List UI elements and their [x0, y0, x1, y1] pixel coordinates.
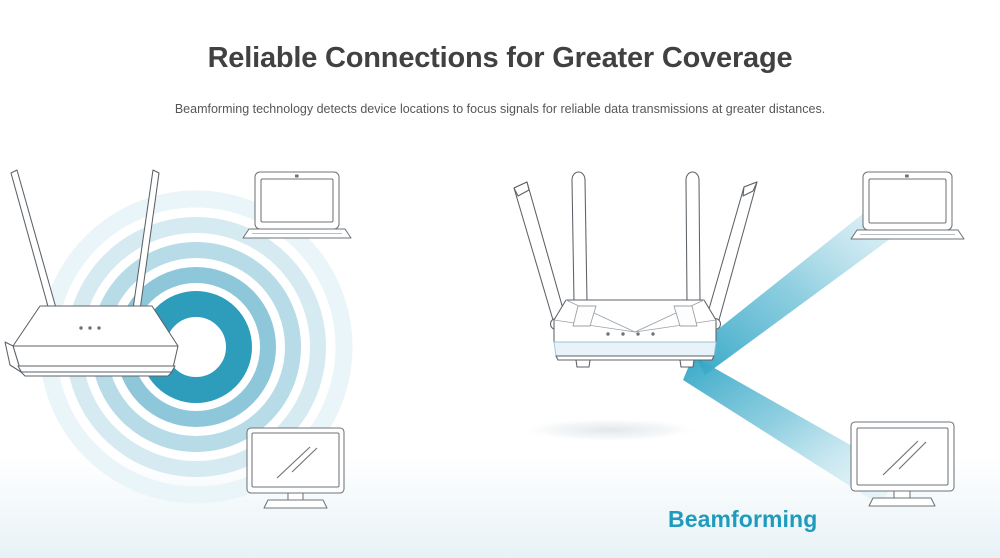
antenna-inner-right: [686, 172, 700, 302]
tv-stand: [869, 498, 935, 506]
antenna-outer-right: [707, 182, 757, 320]
router-shadow: [518, 418, 702, 442]
router-antenna-left: [11, 170, 56, 310]
header: Reliable Connections for Greater Coverag…: [0, 0, 1000, 117]
tv-stand: [264, 500, 327, 508]
router-foot-right: [680, 360, 694, 367]
router-base-strip: [554, 342, 716, 356]
laptop-screen: [261, 179, 333, 222]
laptop-device: [851, 172, 964, 239]
right-illustration-beamforming: [500, 160, 1000, 558]
tv-neck: [288, 493, 303, 500]
left-illustration-omni-coverage: [0, 160, 500, 558]
laptop-camera: [295, 175, 299, 178]
laptop-screen: [869, 179, 946, 223]
omni-coverage-graphic: [0, 160, 500, 558]
laptop-camera: [905, 175, 909, 178]
antenna-inner-left: [572, 172, 587, 302]
laptop-device: [243, 172, 351, 238]
router-base-edge: [21, 372, 172, 376]
router-base-edge: [556, 356, 714, 360]
illustration-stage: [0, 160, 1000, 558]
page-subtitle: Beamforming technology detects device lo…: [0, 75, 1000, 117]
router-foot-left: [576, 360, 590, 367]
tv-neck: [894, 491, 910, 498]
beamforming-caption: Beamforming: [668, 508, 817, 531]
beamforming-graphic: [500, 160, 1000, 558]
antenna-outer-left: [514, 182, 565, 320]
page-background: Reliable Connections for Greater Coverag…: [0, 0, 1000, 558]
page-title: Reliable Connections for Greater Coverag…: [0, 43, 1000, 75]
router-top-face: [13, 306, 178, 346]
television-device: [247, 428, 344, 508]
